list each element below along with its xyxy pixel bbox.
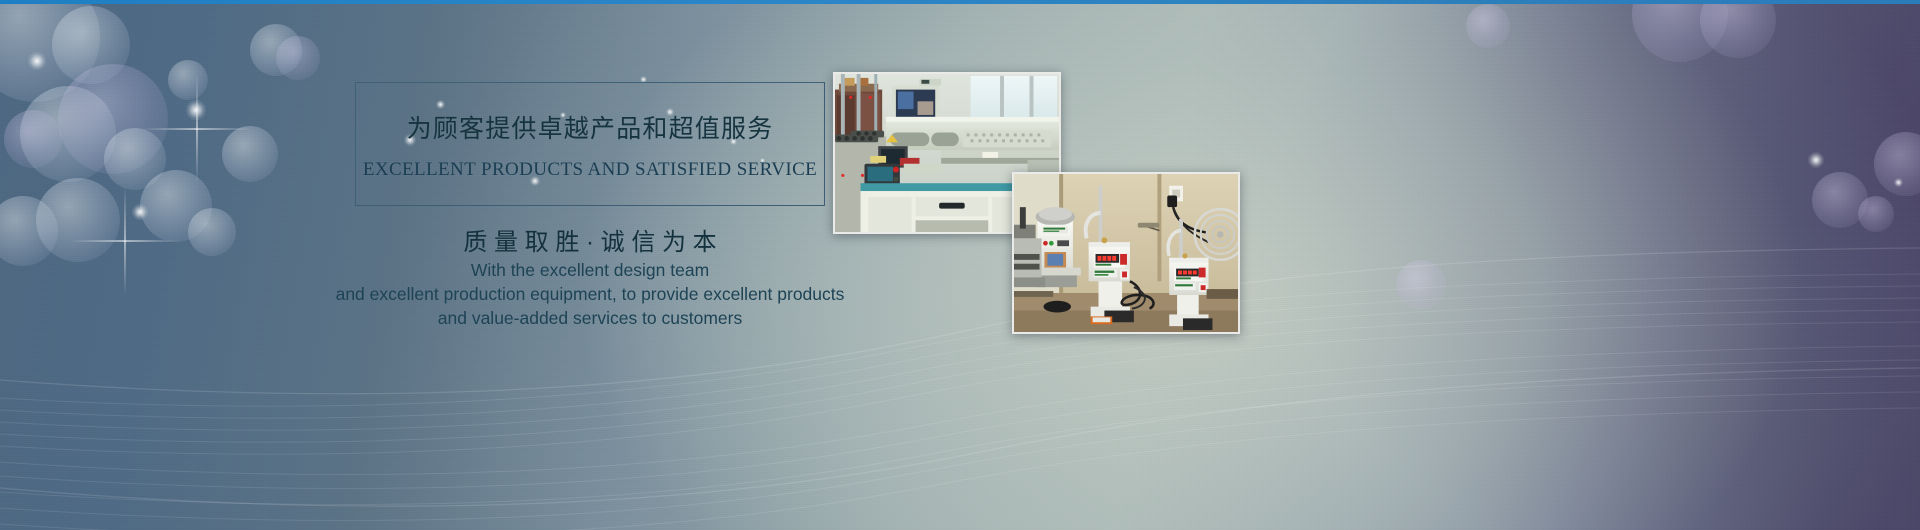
- headline-chinese: 为顾客提供卓越产品和超值服务: [356, 109, 824, 145]
- promo-banner: 为顾客提供卓越产品和超值服务 EXCELLENT PRODUCTS AND SA…: [0, 0, 1920, 530]
- press-machines-photo: [1012, 172, 1240, 334]
- headline-english: EXCELLENT PRODUCTS AND SATISFIED SERVICE: [356, 159, 824, 181]
- description-paragraph: With the excellent design team and excel…: [305, 258, 875, 330]
- paragraph-line-2: and excellent production equipment, to p…: [305, 282, 875, 306]
- top-accent-line: [0, 0, 1920, 4]
- headline-frame: 为顾客提供卓越产品和超值服务 EXCELLENT PRODUCTS AND SA…: [355, 82, 825, 206]
- tagline-chinese: 质 量 取 胜 · 诚 信 为 本: [355, 222, 825, 257]
- paragraph-line-1: With the excellent design team: [305, 258, 875, 282]
- paragraph-line-3: and value-added services to customers: [305, 306, 875, 330]
